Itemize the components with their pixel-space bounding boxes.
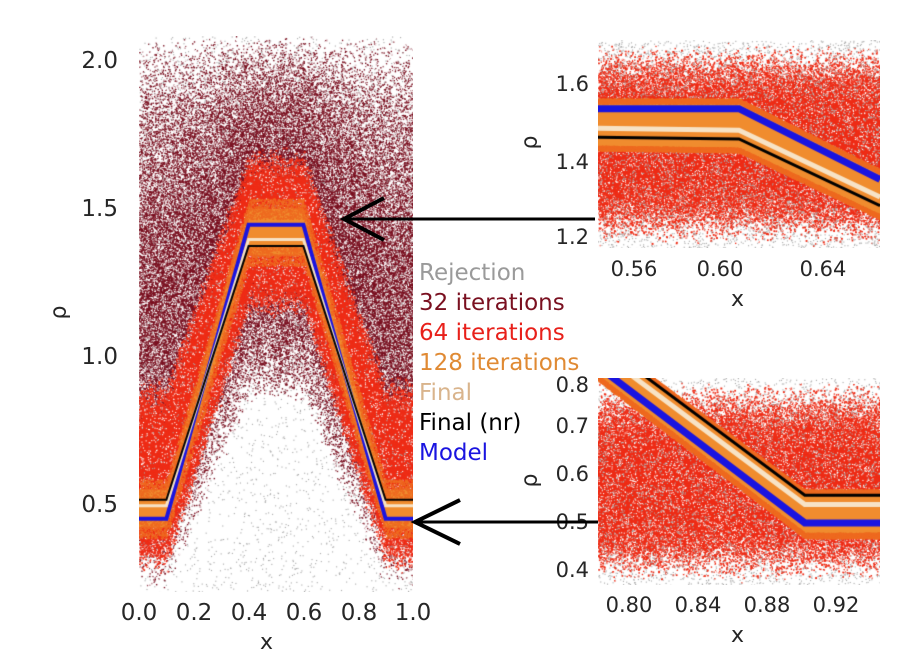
main-yaxis-title: ρ (47, 300, 72, 326)
insetbot-xtick-0-80: 0.80 (593, 593, 665, 617)
insetbot-ytick-0-4: 0.4 (533, 558, 589, 582)
legend-item-64-iterations: 64 iterations (419, 318, 599, 348)
main-xtick-0-6: 0.6 (274, 600, 334, 626)
main-scatter-panel (139, 36, 413, 592)
main-xtick-1-0: 1.0 (383, 600, 443, 626)
insettop-xtick-0-56: 0.56 (598, 257, 670, 281)
main-xtick-0-2: 0.2 (164, 600, 224, 626)
legend: Rejection 32 iterations 64 iterations 12… (419, 258, 599, 468)
arrow-to-main-lower-plateau (402, 497, 602, 547)
legend-item-128-iterations: 128 iterations (419, 348, 599, 378)
legend-item-final-nr: Final (nr) (419, 408, 599, 438)
insettop-xtick-0-64: 0.64 (787, 257, 859, 281)
insetbot-xtick-0-88: 0.88 (731, 593, 803, 617)
main-xaxis-title: x (260, 630, 273, 655)
main-ytick-0-5: 0.5 (58, 492, 118, 518)
legend-item-32-iterations: 32 iterations (419, 288, 599, 318)
insetbot-yaxis-title: ρ (518, 468, 543, 494)
main-ytick-1-5: 1.5 (58, 196, 118, 222)
figure-canvas: 2.0 1.5 1.0 0.5 0.0 0.2 0.4 0.6 0.8 1.0 … (0, 0, 912, 672)
main-xtick-0-8: 0.8 (329, 600, 389, 626)
legend-item-rejection: Rejection (419, 258, 599, 288)
insettop-xaxis-title: x (731, 287, 744, 312)
insettop-ytick-1-6: 1.6 (533, 72, 589, 96)
main-ytick-1-0: 1.0 (58, 344, 118, 370)
main-ytick-2-0: 2.0 (58, 48, 118, 74)
insettop-yaxis-title: ρ (518, 130, 543, 156)
legend-item-final: Final (419, 378, 599, 408)
inset-top-panel (598, 40, 880, 248)
inset-bottom-panel (598, 378, 880, 585)
arrow-to-main-upper-plateau (330, 196, 600, 242)
insetbot-xtick-0-84: 0.84 (662, 593, 734, 617)
insetbot-xaxis-title: x (731, 623, 744, 648)
main-xtick-0-0: 0.0 (109, 600, 169, 626)
insetbot-xtick-0-92: 0.92 (800, 593, 872, 617)
legend-item-model: Model (419, 438, 599, 468)
insettop-xtick-0-60: 0.60 (684, 257, 756, 281)
main-xtick-0-4: 0.4 (219, 600, 279, 626)
